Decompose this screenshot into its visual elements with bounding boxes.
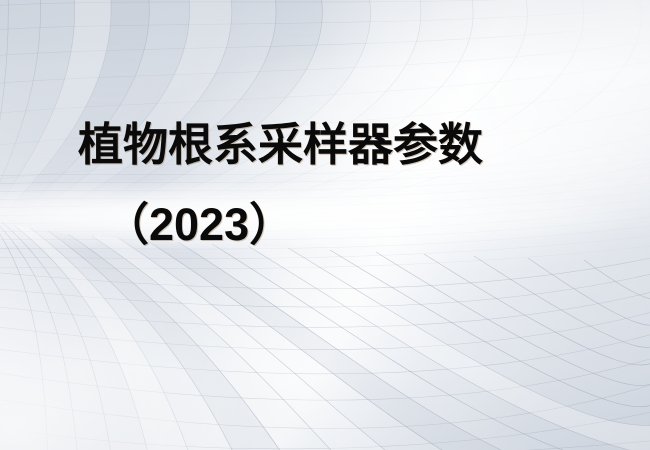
presentation-slide: 植物根系采样器参数 （2023）	[0, 0, 650, 450]
slide-subtitle-text: （2023）	[104, 202, 294, 247]
slide-title-text: 植物根系采样器参数	[78, 122, 483, 167]
slide-title-block: 植物根系采样器参数 （2023）	[0, 0, 650, 450]
